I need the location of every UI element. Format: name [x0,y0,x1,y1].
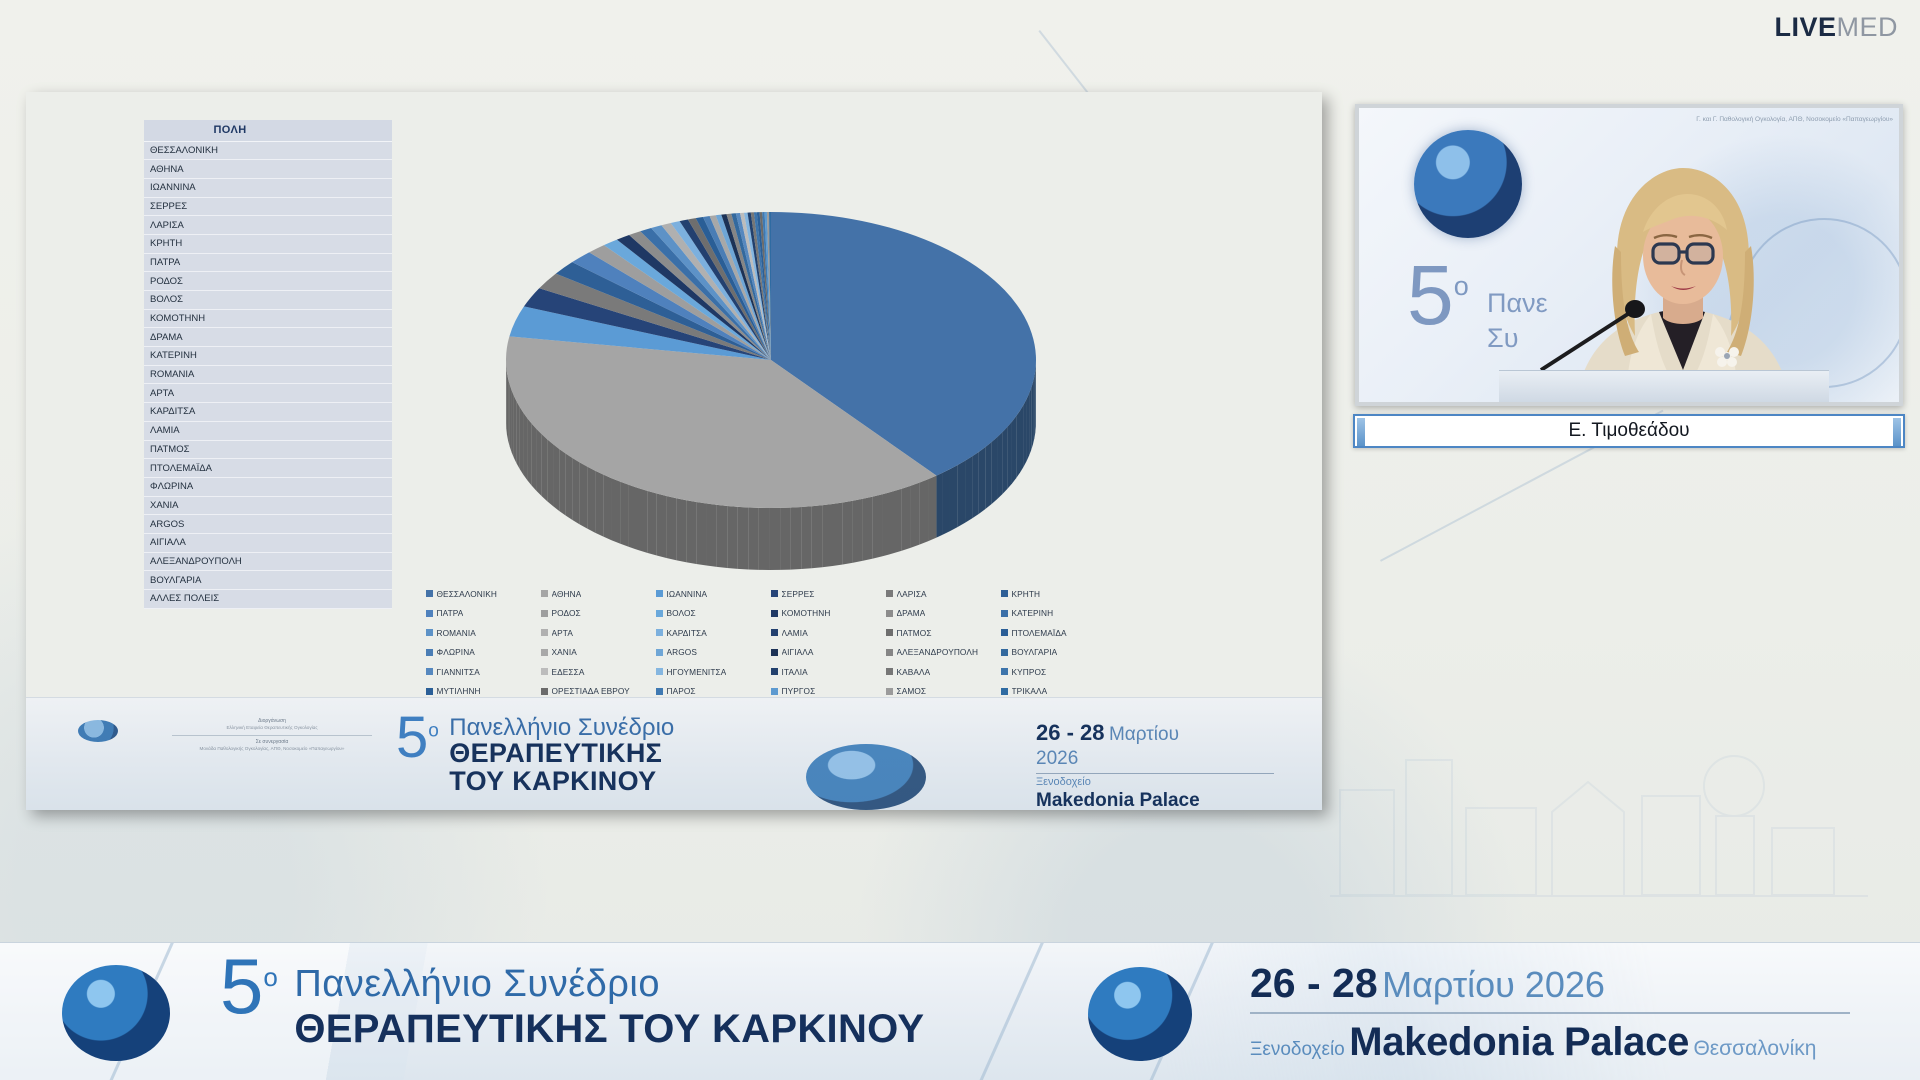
table-cell-city: ΑΛΛΕΣ ΠΟΛΕΙΣ [144,590,316,609]
table-row: ΦΛΩΡΙΝΑ [144,477,392,496]
pie-slice-side [638,488,647,553]
presentation-slide[interactable]: ΠΟΛΗ ΘΕΣΣΑΛΟΝΙΚΗΑΘΗΝΑΙΩΑΝΝΙΝΑΣΕΡΡΕΣΛΑΡΙΣ… [26,92,1322,810]
table-cell-city: ΒΟΛΟΣ [144,291,316,310]
pie-slice-side [532,424,537,491]
banner-globe-left-icon [62,965,170,1061]
pie-slice-side [863,497,873,561]
table-cell-value [316,291,392,310]
legend-item: ΒΟΥΛΓΑΡΙΑ [1001,643,1116,663]
legend-label: ΛΑΡΙΣΑ [897,589,927,599]
slide-footer-venue-info: 26 - 28 Μαρτίου 2026 Ξενοδοχείο Makedoni… [1036,720,1274,810]
table-header-city: ΠΟΛΗ [144,120,316,141]
slide-canvas: ΠΟΛΗ ΘΕΣΣΑΛΟΝΙΚΗΑΘΗΝΑΙΩΑΝΝΙΝΑΣΕΡΡΕΣΛΑΡΙΣ… [26,92,1322,810]
table-cell-city: ΚΑΡΔΙΤΣΑ [144,403,316,422]
table-cell-value [316,459,392,478]
legend-swatch-icon [771,668,778,675]
pie-slice-side [910,483,919,548]
table-row: ΑΙΓΙΑΛΑ [144,533,392,552]
legend-item: ΗΓΟΥΜΕΝΙΤΣΑ [656,662,771,682]
name-plate-cap-right [1893,418,1901,446]
table-cell-value [316,496,392,515]
video-backdrop-orb-icon [1414,130,1522,238]
legend-swatch-icon [656,668,663,675]
table-cell-city: ΣΕΡΡΕΣ [144,197,316,216]
legend-label: ΚΟΜΟΤΗΝΗ [782,608,831,618]
table-body: ΘΕΣΣΑΛΟΝΙΚΗΑΘΗΝΑΙΩΑΝΝΙΝΑΣΕΡΡΕΣΛΑΡΙΣΑΚΡΗΤ… [144,141,392,608]
table-cell-value [316,160,392,179]
legend-item: ΙΤΑΛΙΑ [771,662,886,682]
pie-slice-side [791,507,802,570]
table-row: ΔΡΑΜΑ [144,328,392,347]
pie-slice-side [769,508,780,570]
legend-label: ΒΟΥΛΓΑΡΙΑ [1012,647,1058,657]
pie-slice-side [553,444,559,511]
pie-chart-svg [426,150,1116,570]
legend-swatch-icon [426,610,433,617]
banner-date-month: Μαρτίου 2026 [1382,964,1605,1005]
legend-item: ΛΑΡΙΣΑ [886,584,1001,604]
pie-slice-side [801,506,812,569]
legend-label: ΧΑΝΙΑ [552,647,577,657]
banner-hotel-city: Θεσσαλονίκη [1693,1037,1816,1060]
pie-slice-side [603,475,611,541]
banner-conference-label: Πανελλήνιο Συνέδριο [294,965,924,1003]
livemed-logo-primary: LIVE [1774,12,1836,42]
banner-conference-title: ΘΕΡΑΠΕΥΤΙΚΗΣ ΤΟΥ ΚΑΡΚΙΝΟΥ [294,1009,924,1049]
legend-swatch-icon [541,610,548,617]
pie-slice-side [527,418,531,485]
legend-swatch-icon [771,688,778,695]
pie-slice-side [738,507,749,570]
pie-slice-side [1031,382,1033,450]
table-cell-value [316,533,392,552]
legend-label: ARGOS [667,647,697,657]
table-row: ΑΡΤΑ [144,384,392,403]
pie-slice-side [686,500,696,564]
pie-slice-side [512,390,514,458]
table-row: ΠΤΟΛΕΜΑΪΔΑ [144,459,392,478]
legend-swatch-icon [1001,610,1008,617]
pie-chart [426,150,1116,570]
pie-slice-side [1016,411,1020,479]
speaker-video-panel[interactable]: Γ. και Γ. Παθολογική Ογκολογία, ΑΠΘ, Νοσ… [1355,104,1903,406]
legend-swatch-icon [426,629,433,636]
table-cell-value [316,571,392,590]
pie-slice-side [1033,376,1034,444]
table-header-row: ΠΟΛΗ [144,120,392,141]
legend-label: ΚΑΒΑΛΑ [897,667,931,677]
table-cell-city: ΚΡΗΤΗ [144,234,316,253]
legend-item: ΚΥΠΡΟΣ [1001,662,1116,682]
pie-slice-side [510,384,512,452]
legend-item: ΙΩΑΝΝΙΝΑ [656,584,771,604]
table-cell-city: ΑΡΤΑ [144,384,316,403]
table-row: ΚΟΜΟΤΗΝΗ [144,309,392,328]
conference-banner: 5ο Πανελλήνιο Συνέδριο ΘΕΡΑΠΕΥΤΙΚΗΣ ΤΟΥ … [0,942,1920,1080]
slide-footer-edition-number: 5ο [396,705,439,770]
legend-swatch-icon [771,590,778,597]
table-cell-city: ΛΑΜΙΑ [144,421,316,440]
table-cell-city: ΙΩΑΝΝΙΝΑ [144,178,316,197]
table-cell-value [316,477,392,496]
legend-label: ΟΡΕΣΤΙΑΔΑ ΕΒΡΟΥ [552,686,630,696]
legend-label: ΛΑΜΙΑ [782,628,808,638]
pie-slice-side [520,407,524,475]
table-cell-value [316,328,392,347]
legend-item: ΑΙΓΙΑΛΑ [771,643,886,663]
table-cell-city: ΚΑΤΕΡΙΝΗ [144,347,316,366]
legend-swatch-icon [426,649,433,656]
pie-slice-side [1020,405,1023,473]
pie-slice-side [629,485,638,550]
pie-slice-side [965,456,972,522]
table-row: ΣΕΡΡΕΣ [144,197,392,216]
background-skyline-graphic [1320,700,1880,900]
pie-slice-side [696,502,706,566]
livemed-logo: LIVEMED [1774,14,1898,41]
pie-slice-side [523,413,527,480]
pie-slice-side [727,506,737,569]
legend-swatch-icon [541,649,548,656]
microphone-icon [1535,298,1655,374]
legend-label: ΚΡΗΤΗ [1012,589,1041,599]
legend-swatch-icon [886,629,893,636]
table-row: ΑΛΕΞΑΝΔΡΟΥΠΟΛΗ [144,552,392,571]
table-cell-city: ΒΟΥΛΓΑΡΙΑ [144,571,316,590]
legend-swatch-icon [1001,629,1008,636]
legend-swatch-icon [886,649,893,656]
legend-item: ΠΑΤΜΟΣ [886,623,1001,643]
pie-slice-side [892,489,901,554]
pie-slice-side [595,471,603,537]
legend-swatch-icon [656,688,663,695]
legend-label: ΕΔΕΣΣΑ [552,667,585,677]
table-row: ΑΛΛΕΣ ΠΟΛΕΙΣ [144,590,392,609]
banner-venue-block: 26 - 28 Μαρτίου 2026 Ξενοδοχείο Makedoni… [1250,961,1850,1064]
pie-slice-side [707,504,717,567]
pie-slice-side [542,434,547,501]
legend-swatch-icon [1001,688,1008,695]
table-row: ΛΑΜΙΑ [144,421,392,440]
pie-slice-side [1023,399,1026,467]
table-cell-value [316,272,392,291]
table-cell-city: ΛΑΡΙΣΑ [144,216,316,235]
legend-item: ΦΛΩΡΙΝΑ [426,643,541,663]
table-row: ΧΑΝΙΑ [144,496,392,515]
table-cell-value [316,590,392,609]
legend-swatch-icon [886,688,893,695]
legend-label: ΠΑΤΡΑ [437,608,464,618]
pie-slice-side [997,432,1002,499]
legend-label: ΠΤΟΛΕΜΑΪΔΑ [1012,628,1067,638]
pie-slice-side [537,429,542,496]
table-cell-value [316,197,392,216]
speaker-name-plate: Ε. Τιμοθεάδου [1353,414,1905,448]
legend-item: ΘΕΣΣΑΛΟΝΙΚΗ [426,584,541,604]
legend-item: ΒΟΛΟΣ [656,604,771,624]
legend-swatch-icon [541,688,548,695]
organizer-name: Ελληνική Εταιρεία Θεραπευτικής Ογκολογία… [122,725,422,732]
banner-title-block: 5ο Πανελλήνιο Συνέδριο ΘΕΡΑΠΕΥΤΙΚΗΣ ΤΟΥ … [220,953,924,1049]
table-row: ΙΩΑΝΝΙΝΑ [144,178,392,197]
pie-slice-side [580,462,587,528]
legend-item: ΚΑΤΕΡΙΝΗ [1001,604,1116,624]
podium [1499,370,1829,402]
legend-item: ΚΑΒΑΛΑ [886,662,1001,682]
legend-swatch-icon [1001,649,1008,656]
legend-label: ΡΟΔΟΣ [552,608,581,618]
pie-slice-side [1002,427,1007,494]
legend-item: ΧΑΝΙΑ [541,643,656,663]
table-row: ΘΕΣΣΑΛΟΝΙΚΗ [144,141,392,160]
legend-label: ΑΛΕΞΑΝΔΡΟΥΠΟΛΗ [897,647,979,657]
pie-slice-side [573,458,580,524]
table-header-value [316,120,392,141]
legend-label: ΑΘΗΝΑ [552,589,582,599]
speaker-name: Ε. Τιμοθεάδου [1568,420,1689,442]
livemed-logo-secondary: MED [1837,12,1899,42]
table-cell-city: ROMANIA [144,365,316,384]
legend-label: ΣΑΜΟΣ [897,686,927,696]
legend-swatch-icon [771,629,778,636]
legend-label: ROMANIA [437,628,476,638]
pie-slice-side [587,467,595,533]
pie-slice-side [882,492,892,557]
legend-swatch-icon [886,610,893,617]
slide-footer-globe-icon [806,744,926,810]
pie-slice-side [991,437,997,504]
video-backdrop-affiliation: Γ. και Γ. Παθολογική Ογκολογία, ΑΠΘ, Νοσ… [1696,116,1893,123]
legend-swatch-icon [886,590,893,597]
organizer-credits: Διοργάνωση Ελληνική Εταιρεία Θεραπευτική… [122,718,422,753]
pie-slice-side [901,486,910,551]
legend-swatch-icon [541,668,548,675]
pie-slice-side [517,402,520,470]
slide-footer-conference-label: Πανελλήνιο Συνέδριο [449,714,674,741]
legend-label: ΘΕΣΣΑΛΟΝΙΚΗ [437,589,498,599]
legend-item: ROMANIA [426,623,541,643]
pie-chart-legend: ΘΕΣΣΑΛΟΝΙΚΗΑΘΗΝΑΙΩΑΝΝΙΝΑΣΕΡΡΕΣΛΑΡΙΣΑΚΡΗΤ… [426,584,1116,701]
banner-date-range: 26 - 28 [1250,960,1378,1006]
legend-item: ΚΑΡΔΙΤΣΑ [656,623,771,643]
legend-item: ΔΡΑΜΑ [886,604,1001,624]
pie-slice-side [566,454,573,521]
pie-slice-side [507,373,508,441]
collaboration-name: Μονάδα Παθολογικής Ογκολογίας, ΑΠΘ, Νοσο… [122,746,422,753]
table-cell-city: ΠΤΟΛΕΜΑΪΔΑ [144,459,316,478]
legend-label: ΚΑΡΔΙΤΣΑ [667,628,707,638]
table-cell-value [316,552,392,571]
legend-item: ΕΔΕΣΣΑ [541,662,656,682]
pie-slice-side [833,502,843,565]
table-row: ΚΑΤΕΡΙΝΗ [144,347,392,366]
pie-slice-side [748,507,759,569]
table-cell-city: ARGOS [144,515,316,534]
table-row: ΠΑΤΜΟΣ [144,440,392,459]
table-row: ΠΑΤΡΑ [144,253,392,272]
legend-item: ΑΡΤΑ [541,623,656,643]
table-row: ΛΑΡΙΣΑ [144,216,392,235]
legend-swatch-icon [426,590,433,597]
name-plate-cap-left [1357,418,1365,446]
slide-footer-title: 5ο Πανελλήνιο Συνέδριο ΘΕΡΑΠΕΥΤΙΚΗΣ ΤΟΥ … [396,712,674,795]
table-row: ΡΟΔΟΣ [144,272,392,291]
video-backdrop-edition-number: 5ο [1407,260,1469,331]
table-row: ARGOS [144,515,392,534]
legend-swatch-icon [886,668,893,675]
legend-swatch-icon [1001,668,1008,675]
pie-slice-side [942,469,950,535]
legend-label: ΑΙΓΙΑΛΑ [782,647,814,657]
legend-label: ΠΑΤΜΟΣ [897,628,932,638]
legend-item: ΡΟΔΟΣ [541,604,656,624]
pie-slice-side [612,478,621,543]
table-cell-city: ΠΑΤΡΑ [144,253,316,272]
legend-label: ΣΕΡΡΕΣ [782,589,815,599]
legend-swatch-icon [1001,590,1008,597]
pie-slice-side [506,367,507,435]
pie-slice-side [1035,364,1036,432]
legend-swatch-icon [426,668,433,675]
table-cell-value [316,141,392,160]
legend-swatch-icon [541,629,548,636]
pie-slice-side [843,501,853,565]
legend-item: ΣΕΡΡΕΣ [771,584,886,604]
table-cell-city: ΘΕΣΣΑΛΟΝΙΚΗ [144,141,316,160]
legend-swatch-icon [771,610,778,617]
legend-swatch-icon [656,629,663,636]
table-row: ΑΘΗΝΑ [144,160,392,179]
pie-slice-side [666,496,676,560]
banner-globe-right-icon [1088,967,1192,1061]
slide-footer-hotel-label: Ξενοδοχείο [1036,776,1274,789]
table-row: ΒΟΛΟΣ [144,291,392,310]
table-cell-city: ΠΑΤΜΟΣ [144,440,316,459]
banner-hotel-name: Makedonia Palace [1349,1020,1689,1064]
table-cell-value [316,403,392,422]
slide-footer-date-range: 26 - 28 [1036,720,1105,745]
table-cell-value [316,421,392,440]
table-cell-city: ΦΛΩΡΙΝΑ [144,477,316,496]
table-cell-value [316,365,392,384]
table-row: ΚΑΡΔΙΤΣΑ [144,403,392,422]
table-row: ΒΟΥΛΓΑΡΙΑ [144,571,392,590]
pie-slice-side [676,498,686,562]
table-cell-city: ΑΘΗΝΑ [144,160,316,179]
banner-edition-number: 5ο [220,953,278,1019]
pie-slice-side [547,439,553,506]
legend-swatch-icon [656,610,663,617]
slide-footer-title-line1: ΘΕΡΑΠΕΥΤΙΚΗΣ [449,738,662,768]
pie-slice-side [972,452,979,519]
table-cell-value [316,384,392,403]
pie-slice-side [979,447,985,514]
legend-item: ΠΤΟΛΕΜΑΪΔΑ [1001,623,1116,643]
legend-label: ΜΥΤΙΛΗΝΗ [437,686,481,696]
legend-label: ΚΑΤΕΡΙΝΗ [1012,608,1054,618]
legend-label: ΚΥΠΡΟΣ [1012,667,1047,677]
pie-slice-side [759,508,770,570]
legend-label: ΦΛΩΡΙΝΑ [437,647,475,657]
pie-slice-side [717,505,727,568]
legend-label: ΑΡΤΑ [552,628,573,638]
legend-swatch-icon [541,590,548,597]
pie-slice-side [873,494,883,558]
legend-swatch-icon [656,590,663,597]
organizer-logo-icon [78,720,118,742]
organizer-divider [172,735,372,736]
table-cell-city: ΡΟΔΟΣ [144,272,316,291]
legend-label: ΙΤΑΛΙΑ [782,667,808,677]
slide-footer-divider [1036,773,1274,774]
pie-slice-side [559,449,566,516]
table-cell-value [316,178,392,197]
pie-slice-side [1029,388,1031,456]
banner-hotel-label: Ξενοδοχείο [1250,1039,1345,1060]
banner-divider [1250,1012,1850,1014]
pie-slice-side [958,461,965,527]
pie-slice-side [647,491,656,556]
table-cell-value [316,309,392,328]
legend-item: ΓΙΑΝΝΙΤΣΑ [426,662,541,682]
table-cell-value [316,440,392,459]
table-cell-value [316,347,392,366]
legend-label: ΙΩΑΝΝΙΝΑ [667,589,708,599]
legend-swatch-icon [426,688,433,695]
pie-slice-side [812,505,822,568]
table-cell-city: ΑΛΕΞΑΝΔΡΟΥΠΟΛΗ [144,552,316,571]
city-data-table: ΠΟΛΗ ΘΕΣΣΑΛΟΝΙΚΗΑΘΗΝΑΙΩΑΝΝΙΝΑΣΕΡΡΕΣΛΑΡΙΣ… [144,120,392,609]
pie-slice-side [1007,422,1012,489]
table-cell-value [316,515,392,534]
slide-footer-date-month: Μαρτίου [1109,724,1179,745]
pie-slice-side [657,494,667,558]
pie-slice-side [620,482,629,547]
table-cell-city: ΔΡΑΜΑ [144,328,316,347]
slide-footer-hotel-name: Makedonia Palace [1036,789,1274,810]
table-cell-city: ΧΑΝΙΑ [144,496,316,515]
pie-slice-side [508,378,510,446]
pie-slice-side [936,473,942,538]
table-cell-value [316,253,392,272]
legend-label: ΤΡΙΚΑΛΑ [1012,686,1048,696]
legend-item: ARGOS [656,643,771,663]
legend-item: ΚΡΗΤΗ [1001,584,1116,604]
pie-slice-side [853,499,863,563]
legend-swatch-icon [656,649,663,656]
pie-slice-side [919,479,928,544]
slide-footer-banner: Διοργάνωση Ελληνική Εταιρεία Θεραπευτική… [26,697,1322,810]
legend-label: ΠΥΡΓΟΣ [782,686,816,696]
pie-slice-side [1026,394,1029,462]
table-cell-city: ΑΙΓΙΑΛΑ [144,533,316,552]
legend-label: ΠΑΡΟΣ [667,686,696,696]
pie-slice-side [985,442,991,509]
slide-footer-title-line2: ΤΟΥ ΚΑΡΚΙΝΟΥ [449,766,656,796]
legend-swatch-icon [771,649,778,656]
legend-label: ΓΙΑΝΝΙΤΣΑ [437,667,480,677]
legend-item: ΠΑΤΡΑ [426,604,541,624]
table-row: ΚΡΗΤΗ [144,234,392,253]
pie-slice-side [928,476,936,542]
legend-label: ΒΟΛΟΣ [667,608,696,618]
legend-item: ΑΘΗΝΑ [541,584,656,604]
pie-slice-side [780,508,791,570]
legend-item: ΚΟΜΟΤΗΝΗ [771,604,886,624]
pie-slice-side [1034,370,1035,438]
table-cell-value [316,234,392,253]
legend-label: ΔΡΑΜΑ [897,608,926,618]
